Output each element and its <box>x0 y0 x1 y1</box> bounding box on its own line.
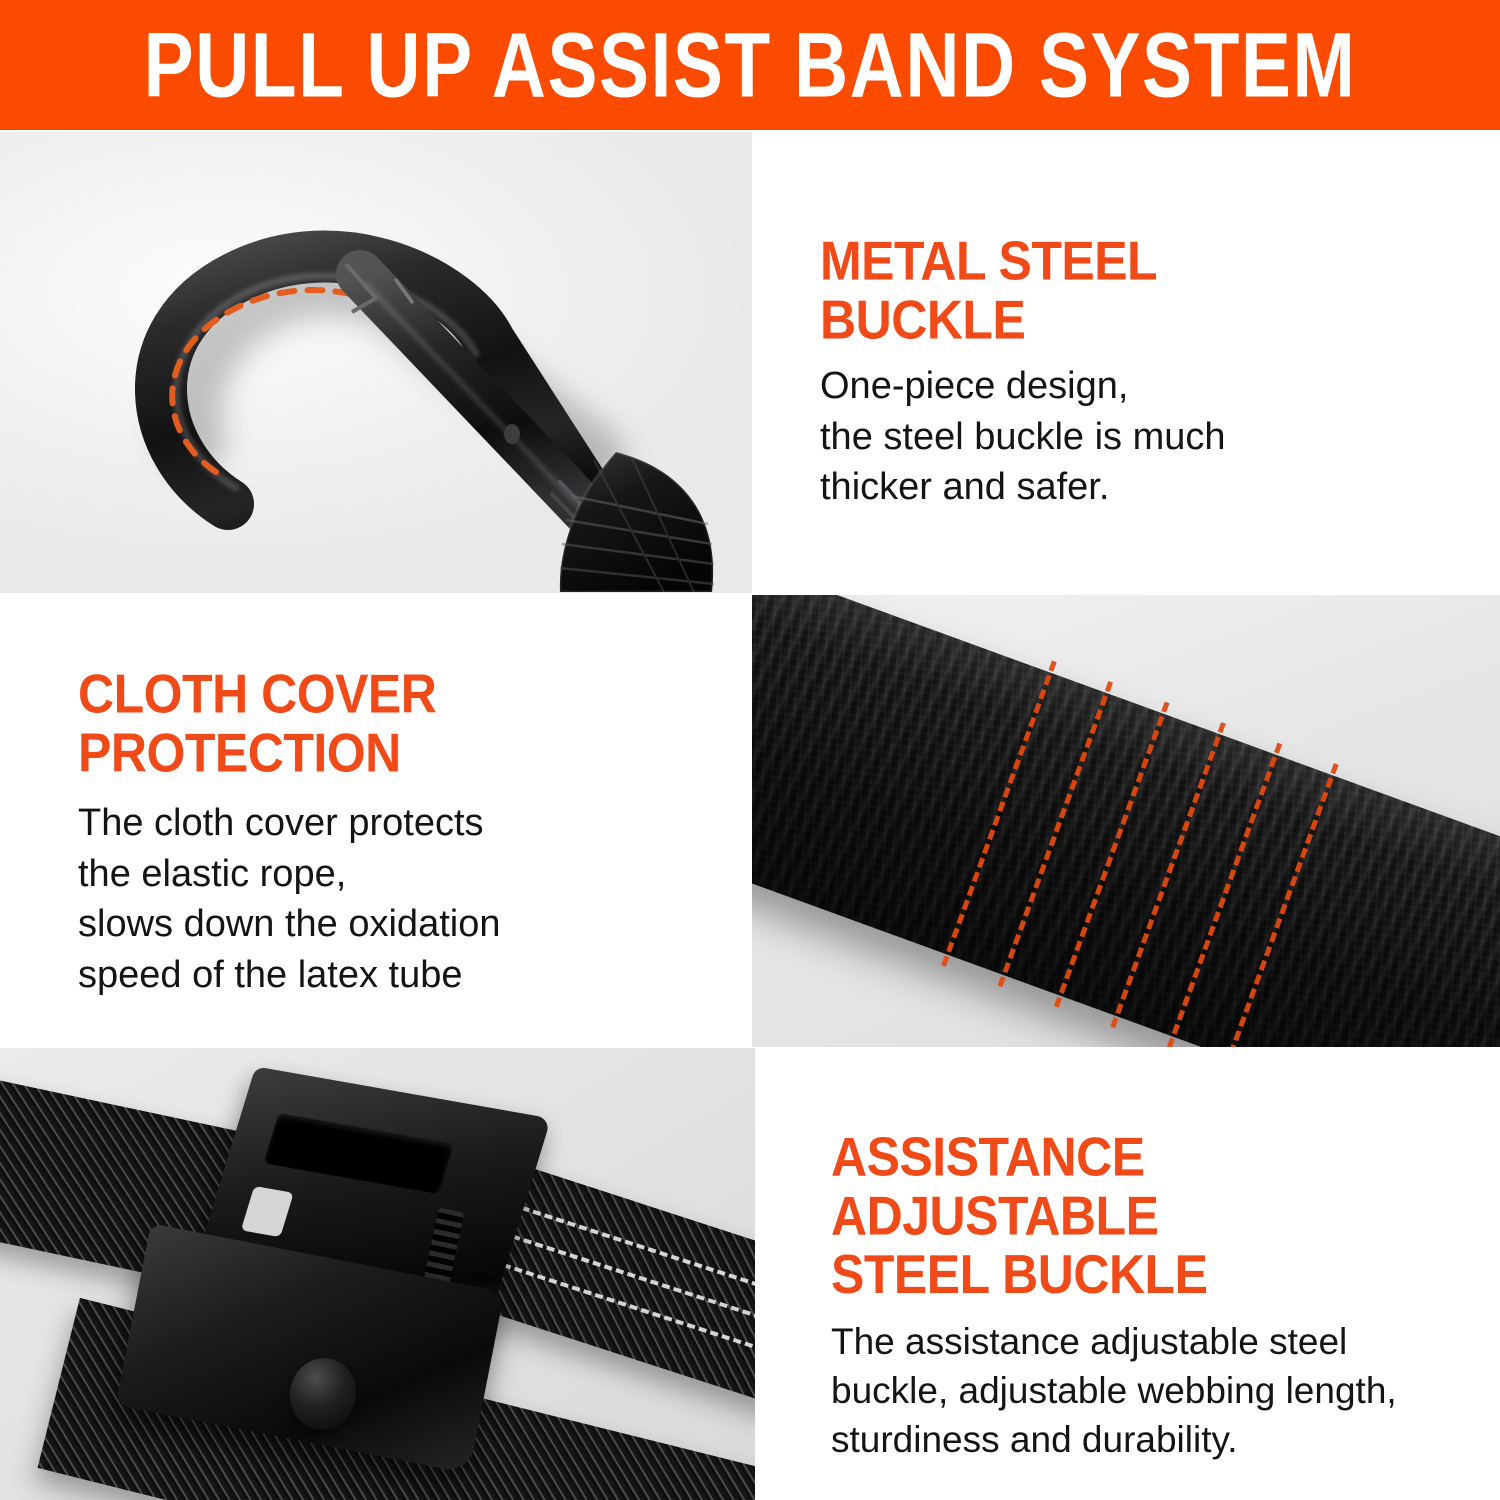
photo-panel-cloth-cover-protection <box>752 595 1500 1047</box>
feature-body-cloth-cover-protection: The cloth cover protects the elastic rop… <box>78 798 500 1000</box>
text-panel-assistance-adjustable-steel-buckle: ASSISTANCE ADJUSTABLE STEEL BUCKLE The a… <box>755 1048 1500 1500</box>
product-infographic: PULL UP ASSIST BAND SYSTEM <box>0 0 1500 1500</box>
feature-body-metal-steel-buckle: One-piece design, the steel buckle is mu… <box>820 361 1226 513</box>
page-title: PULL UP ASSIST BAND SYSTEM <box>144 19 1357 111</box>
feature-text-block: METAL STEEL BUCKLE One-piece design, the… <box>820 232 1226 513</box>
feature-text-block: ASSISTANCE ADJUSTABLE STEEL BUCKLE The a… <box>831 1128 1397 1464</box>
header-banner: PULL UP ASSIST BAND SYSTEM <box>0 0 1500 130</box>
text-panel-cloth-cover-protection: CLOTH COVER PROTECTION The cloth cover p… <box>0 597 752 1046</box>
text-panel-metal-steel-buckle: METAL STEEL BUCKLE One-piece design, the… <box>752 132 1500 593</box>
feature-heading-assistance-adjustable-steel-buckle: ASSISTANCE ADJUSTABLE STEEL BUCKLE <box>831 1128 1397 1305</box>
feature-text-block: CLOTH COVER PROTECTION The cloth cover p… <box>78 665 500 1000</box>
feature-heading-cloth-cover-protection: CLOTH COVER PROTECTION <box>78 665 500 783</box>
feature-body-assistance-adjustable-steel-buckle: The assistance adjustable steel buckle, … <box>831 1317 1397 1465</box>
buckle-slot <box>263 1113 454 1194</box>
carabiner-image <box>60 152 720 592</box>
feature-heading-metal-steel-buckle: METAL STEEL BUCKLE <box>820 232 1226 350</box>
gate-rivet <box>504 424 520 444</box>
buckle-gap <box>241 1186 294 1237</box>
photo-panel-assistance-adjustable-steel-buckle <box>0 1048 755 1500</box>
carabiner-icon <box>60 152 720 592</box>
photo-panel-metal-steel-buckle <box>0 132 752 593</box>
